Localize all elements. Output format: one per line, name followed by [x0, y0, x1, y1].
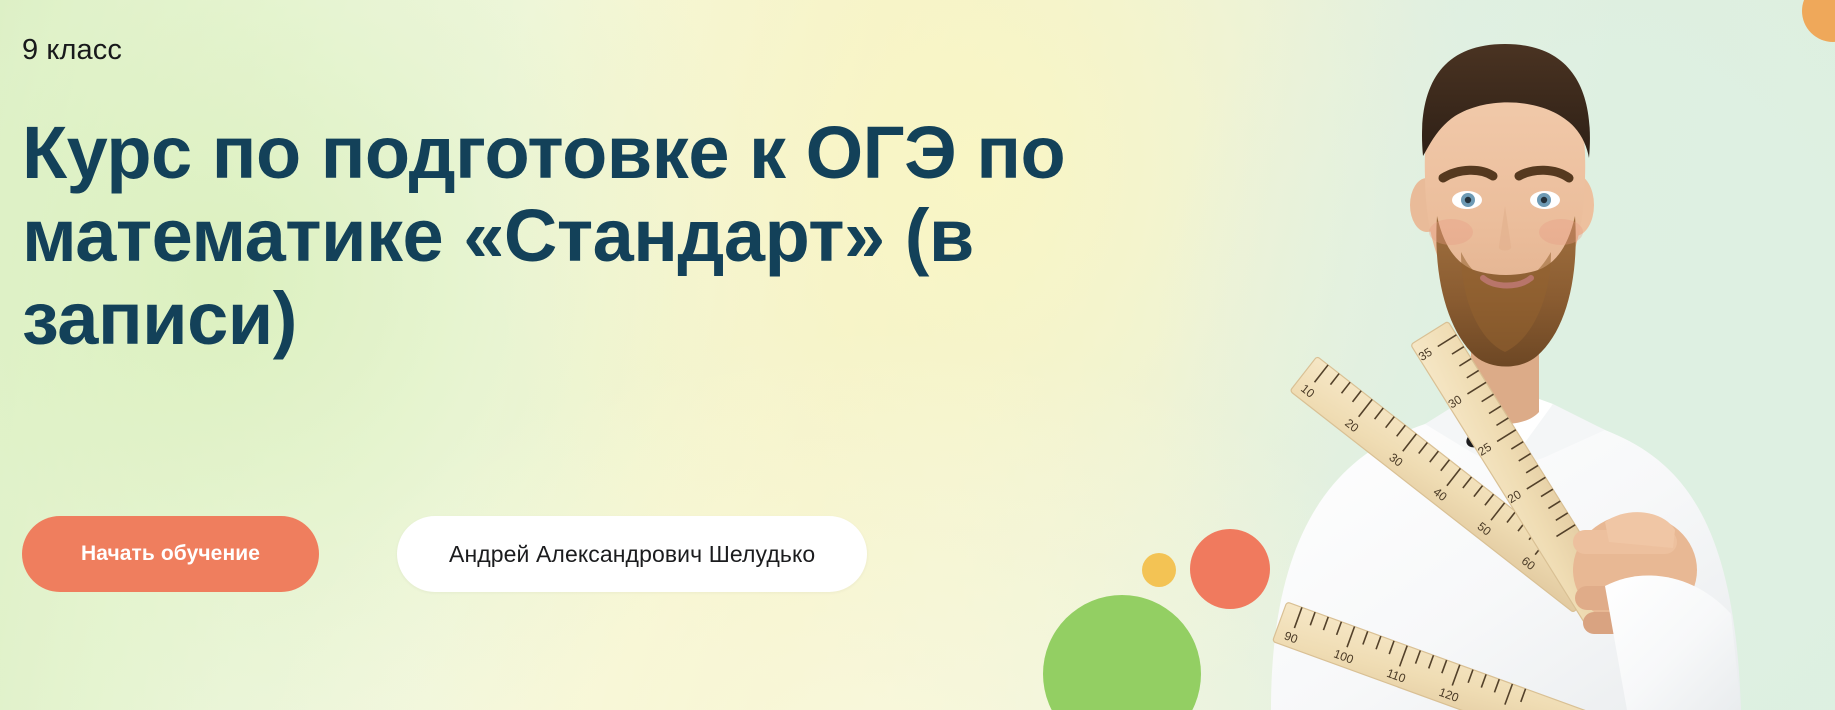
start-learning-button[interactable]: Начать обучение	[22, 516, 319, 592]
cta-row: Начать обучение Андрей Александрович Шел…	[22, 516, 867, 592]
decorative-circle-yellow	[1142, 553, 1176, 587]
teacher-name-pill[interactable]: Андрей Александрович Шелудько	[397, 516, 867, 592]
page-title: Курс по подготовке к ОГЭ по математике «…	[22, 112, 1112, 361]
decorative-circle-coral	[1190, 529, 1270, 609]
course-hero-banner: 10 20 30 40 50 60	[0, 0, 1835, 710]
grade-label: 9 класс	[22, 32, 122, 68]
hero-content: 9 класс Курс по подготовке к ОГЭ по мате…	[22, 0, 1142, 710]
